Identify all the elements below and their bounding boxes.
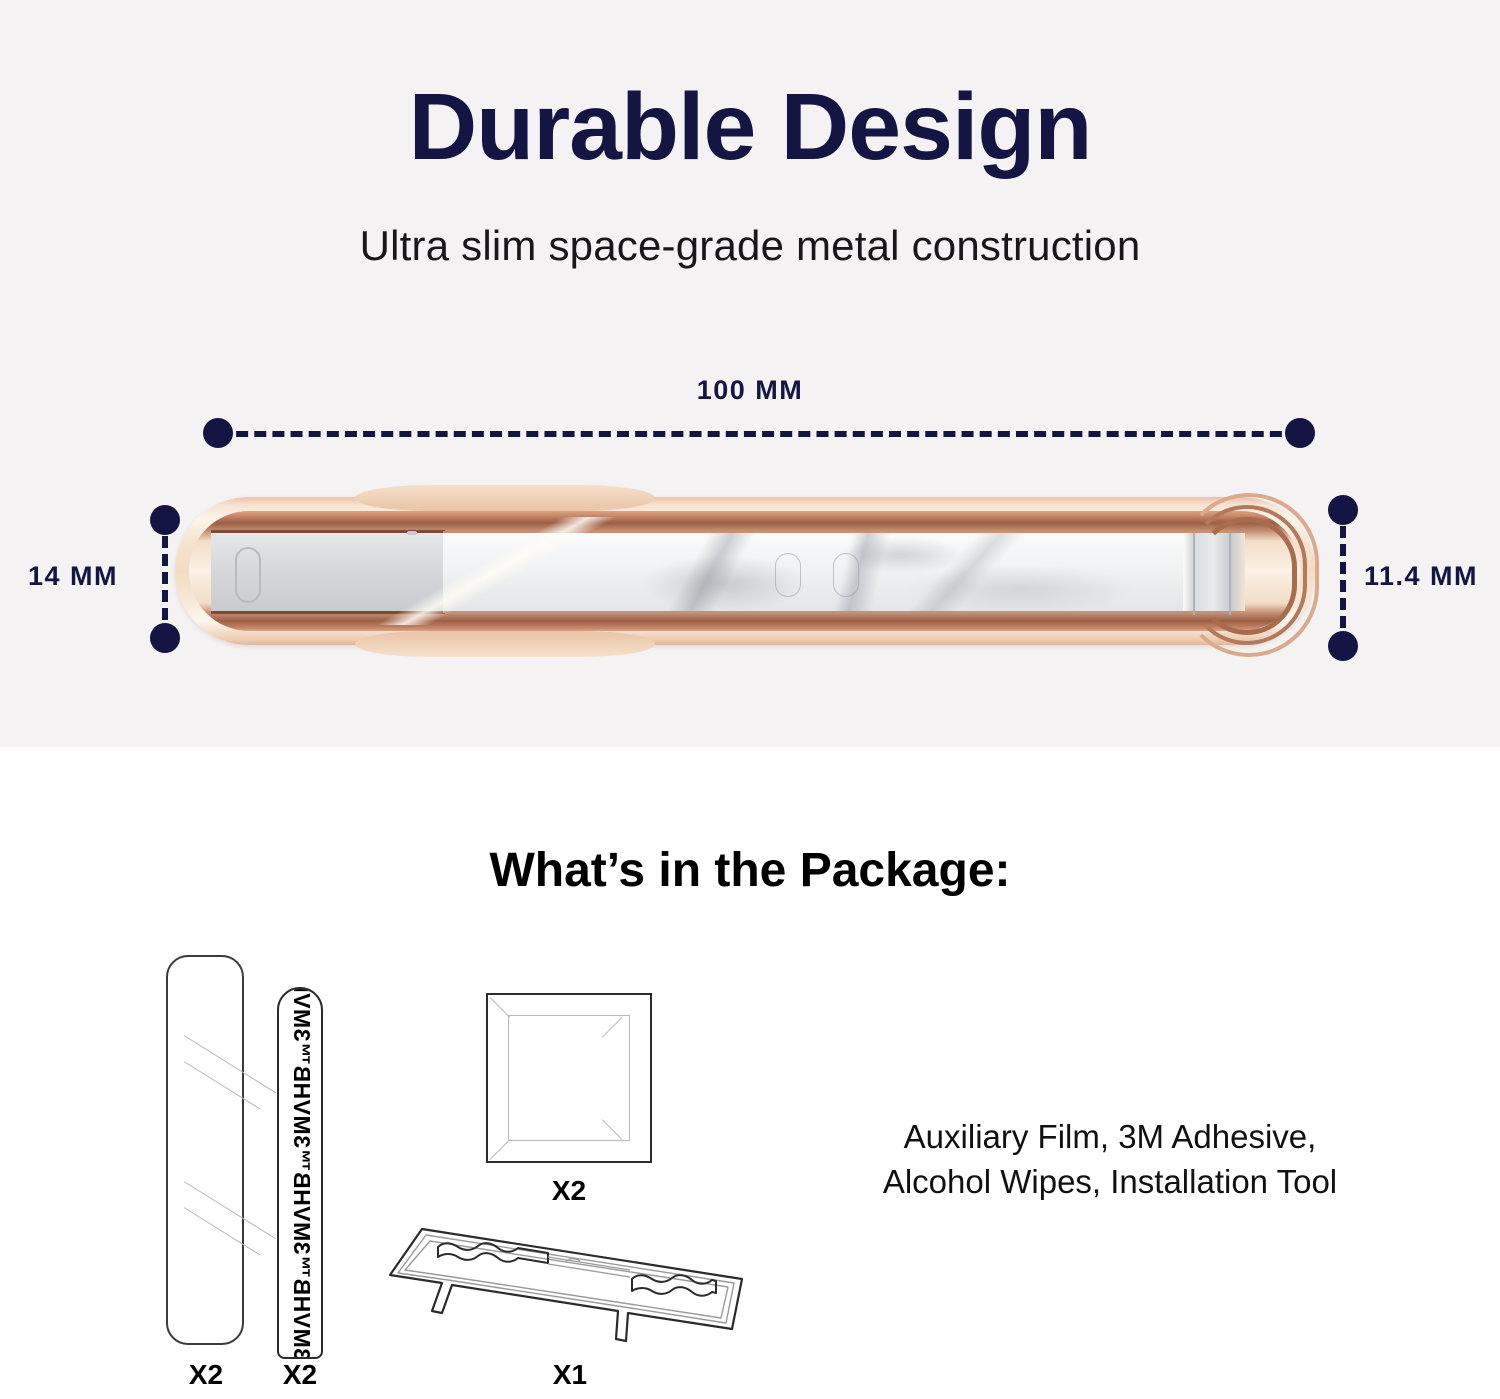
product-end-cap-ring-inner <box>1197 517 1297 635</box>
vhb-label-4: VHB™ <box>289 1148 316 1222</box>
installation-tool-drawing <box>380 1217 750 1357</box>
product-screw-bottom <box>407 607 417 611</box>
dimension-endpoint-left <box>203 418 233 448</box>
marble-slot-left <box>775 553 801 597</box>
dimension-endpoint-right-bottom <box>1328 631 1358 661</box>
film-shine-2 <box>184 1061 261 1110</box>
film-shine-1 <box>184 1035 276 1093</box>
dimension-line-width <box>218 431 1300 437</box>
vhb-label-1: 3M <box>289 1328 316 1359</box>
dimension-line-height-right <box>1340 508 1346 646</box>
package-contents-line-2: Alcohol Wipes, Installation Tool <box>760 1160 1460 1205</box>
package-item-qty-3m-vhb-adhesive: X2 <box>250 1359 350 1391</box>
package-item-qty-alcohol-wipe: X2 <box>509 1175 629 1207</box>
wipe-bevel-tl <box>490 997 511 1018</box>
package-item-installation-tool <box>380 1217 750 1357</box>
hero-panel: Durable Design Ultra slim space-grade me… <box>0 0 1500 747</box>
package-panel: What’s in the Package: Auxiliary Film, 3… <box>0 747 1500 1399</box>
film-shine-4 <box>184 1207 261 1256</box>
package-item-auxiliary-film <box>166 955 244 1345</box>
dimension-endpoint-right-top <box>1328 495 1358 525</box>
package-item-qty-installation-tool: X1 <box>510 1359 630 1391</box>
product-lobe-top <box>355 485 655 511</box>
dimension-label-height-right: 11.4 MM <box>1364 561 1478 592</box>
package-section-title: What’s in the Package: <box>0 843 1500 898</box>
vhb-label-3: 3M <box>289 1222 316 1255</box>
wipe-inner-border <box>508 1015 630 1141</box>
wipe-bevel-bl <box>490 1139 511 1160</box>
dimension-line-height-left <box>162 518 168 638</box>
vhb-label-7: 3M <box>289 1009 316 1042</box>
product-image <box>175 487 1315 655</box>
product-marble-panel <box>443 531 1183 613</box>
dimension-endpoint-right <box>1285 418 1315 448</box>
film-shine-3 <box>184 1181 276 1239</box>
vhb-label-8: VHB™ <box>289 987 316 1009</box>
dimension-label-height-left: 14 MM <box>28 561 118 592</box>
package-contents-line-1: Auxiliary Film, 3M Adhesive, <box>760 1115 1460 1160</box>
marble-slot-right <box>833 553 859 597</box>
dimension-label-width: 100 MM <box>0 375 1500 406</box>
product-screw-top <box>407 531 417 535</box>
page-subtitle: Ultra slim space-grade metal constructio… <box>0 222 1500 270</box>
page-title: Durable Design <box>0 78 1500 178</box>
product-kickstand-plate <box>211 530 445 614</box>
vhb-label-5: 3M <box>289 1115 316 1148</box>
kickstand-slot <box>235 547 261 603</box>
package-contents-text: Auxiliary Film, 3M Adhesive, Alcohol Wip… <box>760 1115 1460 1205</box>
package-item-alcohol-wipe <box>486 993 652 1163</box>
vhb-strip-notch <box>277 1292 323 1318</box>
vhb-label-6: VHB™ <box>289 1041 316 1115</box>
product-lobe-bottom <box>355 631 655 657</box>
